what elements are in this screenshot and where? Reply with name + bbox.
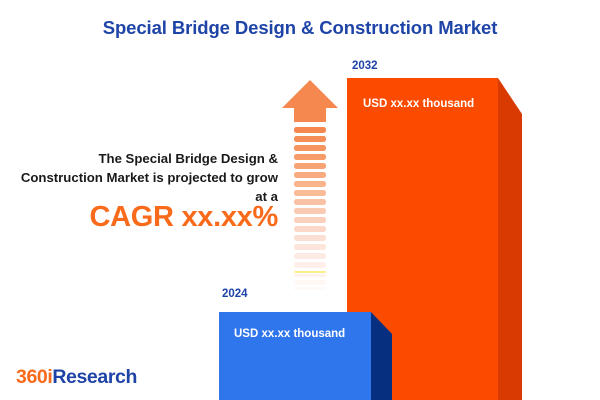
bar-2032-year-label: 2032 [352,60,378,72]
brand-logo-360i: 360i [16,366,52,388]
brand-logo: 360iResearch [16,366,137,389]
bar-2032-value-label: USD xx.xx thousand [363,98,474,110]
arrow-head [282,80,338,122]
growth-statement: The Special Bridge Design & Construction… [14,149,278,206]
growth-arrow-icon [281,78,339,290]
bar-2024-year-label: 2024 [222,288,248,300]
cagr-value: CAGR xx.xx% [14,201,278,234]
bar-2024-side [371,312,392,400]
infographic-canvas: Special Bridge Design & Construction Mar… [0,0,600,400]
bar-2024 [219,312,399,400]
page-title: Special Bridge Design & Construction Mar… [0,17,600,39]
bar-2032-side [498,78,522,400]
arrow-stripes [294,127,326,290]
bar-2024-value-label: USD xx.xx thousand [234,328,345,340]
brand-logo-research: Research [52,366,137,388]
bar-2024-front [219,312,371,400]
